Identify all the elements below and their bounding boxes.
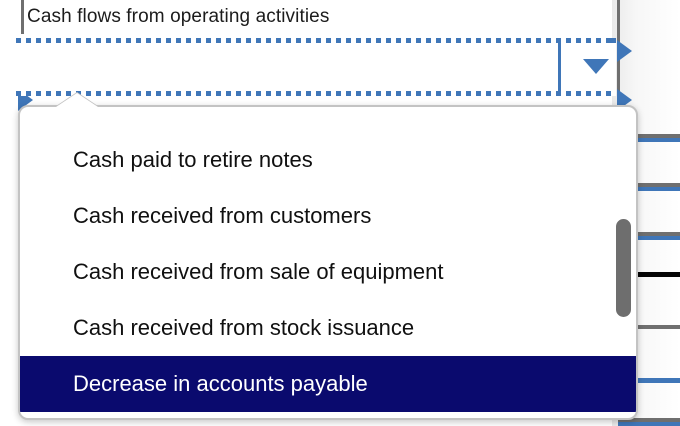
row-rule-7-lower: [618, 422, 680, 426]
dropdown-option-clipped[interactable]: Cash paid for operating expenses: [20, 107, 636, 132]
dropdown-option-label: Cash received from customers: [73, 203, 371, 229]
selection-border-bottom: [16, 91, 616, 96]
dropdown-option-label: Decrease in accounts payable: [73, 371, 368, 397]
dropdown-option[interactable]: Cash received from sale of equipment: [20, 244, 636, 300]
header-cell-label: Cash flows from operating activities: [27, 6, 329, 28]
dropdown-option[interactable]: Cash received from stock issuance: [20, 300, 636, 356]
spreadsheet-dropdown-screen: Cash flows from operating activities Cas…: [0, 0, 680, 426]
chevron-down-icon[interactable]: [583, 59, 609, 74]
header-cell[interactable]: Cash flows from operating activities: [0, 0, 616, 34]
dropdown-option-selected[interactable]: Decrease in accounts payable: [20, 356, 636, 412]
combo-separator: [558, 43, 561, 91]
dropdown-popup: Cash paid for operating expensesCash pai…: [18, 105, 638, 420]
dropdown-option[interactable]: Cash received from customers: [20, 188, 636, 244]
selection-border-right: [611, 38, 616, 96]
dropdown-option-list: Cash paid for operating expensesCash pai…: [20, 107, 636, 418]
selection-marker-top-right: [617, 40, 632, 62]
dropdown-option-label: Cash received from stock issuance: [73, 315, 414, 341]
dropdown-option[interactable]: Cash paid to retire notes: [20, 132, 636, 188]
selection-border-left: [16, 38, 21, 96]
dropdown-scrollbar[interactable]: [613, 133, 633, 414]
popup-notch: [56, 93, 98, 107]
combo-cell[interactable]: [16, 38, 616, 96]
header-cell-left-edge: [21, 0, 24, 34]
dropdown-option-label: Cash paid to retire notes: [73, 147, 313, 173]
selection-border-top: [16, 38, 616, 43]
scrollbar-thumb[interactable]: [616, 219, 631, 317]
dropdown-option-label: Cash received from sale of equipment: [73, 259, 444, 285]
